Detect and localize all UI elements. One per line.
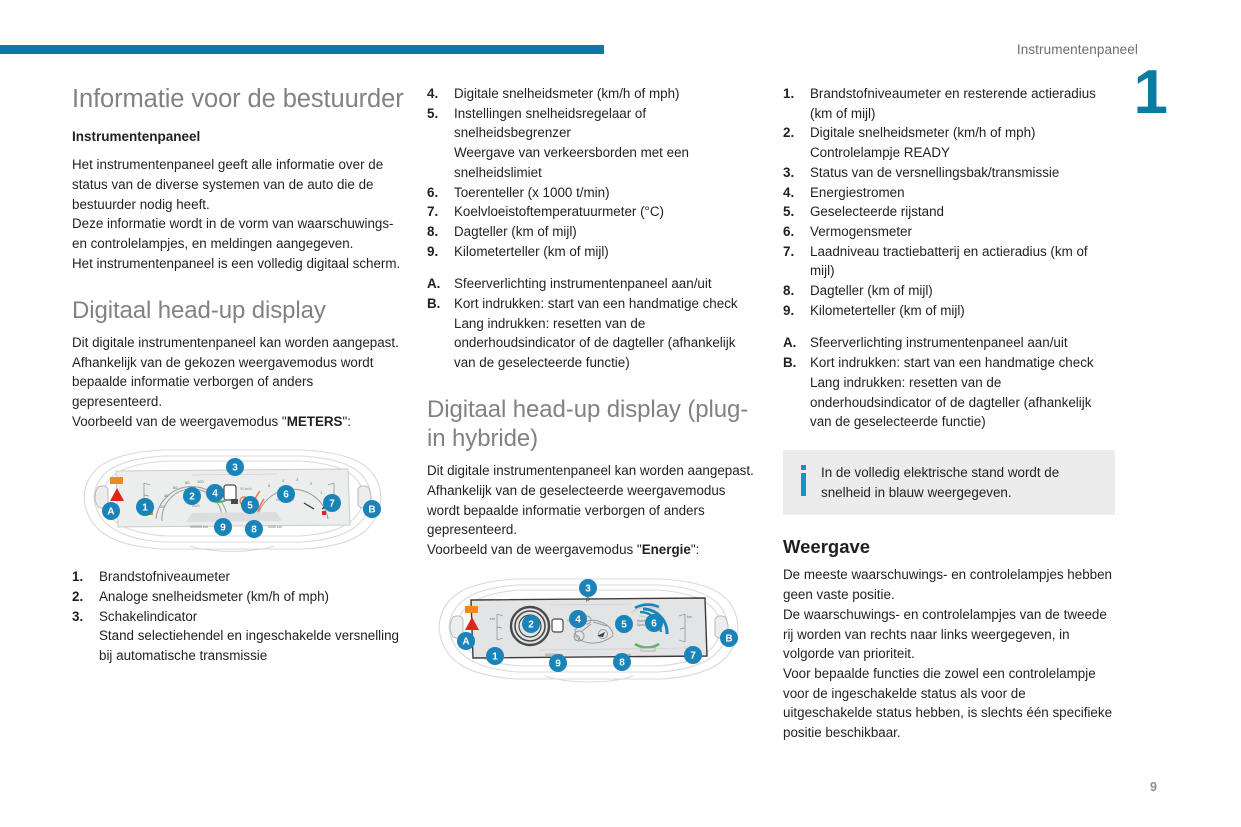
svg-text:7: 7 — [329, 499, 335, 510]
paragraph: De meeste waarschuwings- en controlelamp… — [783, 565, 1115, 604]
svg-text:6: 6 — [651, 618, 657, 629]
example-mode-name: METERS — [287, 414, 343, 429]
list-item: 8. Dagteller (km of mijl) — [427, 222, 755, 242]
svg-text:7: 7 — [690, 650, 696, 661]
list-text-sub: Stand selectiehendel en ingeschakelde ve… — [99, 626, 405, 665]
list-text: Kort indrukken: start van een handmatige… — [810, 353, 1115, 432]
list-marker: 7. — [427, 202, 454, 222]
list-marker: 8. — [427, 222, 454, 242]
info-note-text: In de volledig elektrische stand wordt d… — [821, 463, 1101, 502]
list-item: 5. Instellingen snelheidsregelaar of sne… — [427, 104, 755, 183]
list-marker: 5. — [783, 202, 810, 222]
list-text: Sfeerverlichting instrumentenpaneel aan/… — [454, 274, 755, 294]
paragraph: Het instrumentenpaneel geeft alle inform… — [72, 155, 405, 214]
cluster-meters-svg: 20 40 60 80 100 120 140 km/h P 90 km/h — [72, 445, 392, 555]
svg-text:5: 5 — [621, 619, 627, 630]
list-text: Kilometerteller (km of mijl) — [810, 301, 1115, 321]
svg-text:60: 60 — [173, 485, 178, 490]
list-text: Brandstofniveaumeter — [99, 567, 405, 587]
paragraph: Dit digitale instrumentenpaneel kan word… — [427, 461, 755, 481]
list-marker: 6. — [783, 222, 810, 242]
figure-instrument-cluster-energie: km READY P — [427, 574, 755, 686]
list-item: 7. Laadniveau tractiebatterij en actiera… — [783, 242, 1115, 281]
list-cluster-items-3: 1. Brandstofniveaumeter en resterende ac… — [783, 84, 1115, 320]
column-left: Informatie voor de bestuurder Instrument… — [72, 84, 405, 666]
list-item: 6. Vermogensmeter — [783, 222, 1115, 242]
list-marker: B. — [427, 294, 454, 373]
svg-text:8: 8 — [251, 525, 257, 536]
heading-digitaal-head-up-display-hybride: Digitaal head-up display (plug-in hybrid… — [427, 395, 755, 454]
list-cluster-items-2: 4. Digitale snelheidsmeter (km/h of mph)… — [427, 84, 755, 261]
list-marker: 1. — [72, 567, 99, 587]
header-section-title: Instrumentenpaneel — [1017, 42, 1138, 57]
list-text: Energiestromen — [810, 183, 1115, 203]
paragraph: Voor bepaalde functies die zowel een con… — [783, 664, 1115, 743]
list-text: Digitale snelheidsmeter (km/h of mph) — [454, 84, 755, 104]
svg-text:5: 5 — [247, 501, 253, 512]
list-marker: 4. — [427, 84, 454, 104]
svg-text:km: km — [687, 615, 692, 619]
list-item: 7. Koelvloeistoftemperatuurmeter (°C) — [427, 202, 755, 222]
section-heading-instrumentenpaneel: Instrumentenpaneel — [72, 128, 405, 146]
list-marker: 9. — [427, 242, 454, 262]
list-text-main: Digitale snelheidsmeter (km/h of mph) — [810, 125, 1036, 140]
list-marker: 9. — [783, 301, 810, 321]
paragraph: De waarschuwings- en controlelampjes van… — [783, 605, 1115, 664]
list-text: Analoge snelheidsmeter (km/h of mph) — [99, 587, 405, 607]
list-marker: 3. — [72, 607, 99, 666]
list-text: Toerenteller (x 1000 t/min) — [454, 183, 755, 203]
list-text-sub: Weergave van verkeersborden met een snel… — [454, 143, 755, 182]
paragraph: Dit digitale instrumentenpaneel kan word… — [72, 333, 405, 353]
example-mode-name: Energie — [642, 542, 691, 557]
list-item: 6. Toerenteller (x 1000 t/min) — [427, 183, 755, 203]
svg-text:90 km/h: 90 km/h — [240, 487, 252, 491]
list-text: Sfeerverlichting instrumentenpaneel aan/… — [810, 333, 1115, 353]
svg-text:4: 4 — [212, 489, 218, 500]
list-marker: 4. — [783, 183, 810, 203]
example-prefix: Voorbeeld van de weergavemodus " — [427, 542, 642, 557]
list-item: 3. Status van de versnellingsbak/transmi… — [783, 163, 1115, 183]
list-marker: A. — [427, 274, 454, 294]
paragraph-example-mode: Voorbeeld van de weergavemodus "METERS": — [72, 412, 405, 432]
svg-text:9: 9 — [220, 523, 226, 534]
list-marker: 6. — [427, 183, 454, 203]
svg-text:4: 4 — [575, 614, 581, 625]
list-text-main: Instellingen snelheidsregelaar of snelhe… — [454, 106, 646, 141]
list-item: 4. Digitale snelheidsmeter (km/h of mph) — [427, 84, 755, 104]
list-text-sub: Lang indrukken: resetten van de onderhou… — [810, 373, 1115, 432]
list-item: 3. Schakelindicator Stand selectiehendel… — [72, 607, 405, 666]
list-text-main: Kort indrukken: start van een handmatige… — [810, 355, 1094, 370]
list-text: Brandstofniveaumeter en resterende actie… — [810, 84, 1115, 123]
list-item: B. Kort indrukken: start van een handmat… — [427, 294, 755, 373]
svg-text:100: 100 — [197, 479, 204, 484]
list-text: Dagteller (km of mijl) — [454, 222, 755, 242]
list-text: Vermogensmeter — [810, 222, 1115, 242]
paragraph: Deze informatie wordt in de vorm van waa… — [72, 214, 405, 253]
list-text: Geselecteerde rijstand — [810, 202, 1115, 222]
svg-text:6: 6 — [283, 490, 289, 501]
list-text: Schakelindicator Stand selectiehendel en… — [99, 607, 405, 666]
header-accent-rule — [0, 45, 604, 54]
list-marker: B. — [783, 353, 810, 432]
svg-text:80: 80 — [185, 480, 190, 485]
page-title: Informatie voor de bestuurder — [72, 84, 405, 115]
cluster-energie-svg: km READY P — [427, 574, 749, 686]
list-item: 8. Dagteller (km of mijl) — [783, 281, 1115, 301]
list-text-sub: Lang indrukken: resetten van de onderhou… — [454, 314, 755, 373]
svg-text:9: 9 — [555, 658, 561, 669]
list-marker: 2. — [72, 587, 99, 607]
svg-text:P: P — [586, 598, 590, 604]
heading-digitaal-head-up-display: Digitaal head-up display — [72, 296, 405, 325]
svg-text:B: B — [368, 505, 375, 516]
list-marker: 1. — [783, 84, 810, 123]
svg-text:20: 20 — [160, 504, 165, 509]
svg-text:1: 1 — [492, 651, 498, 662]
svg-text:A: A — [107, 507, 114, 518]
svg-text:000000 km: 000000 km — [190, 525, 208, 529]
svg-text:km: km — [490, 617, 495, 621]
list-text: Status van de versnellingsbak/transmissi… — [810, 163, 1115, 183]
example-suffix: ": — [691, 542, 699, 557]
list-item: 4. Energiestromen — [783, 183, 1115, 203]
list-item: A. Sfeerverlichting instrumentenpaneel a… — [783, 333, 1115, 353]
chapter-number: 1 — [1134, 62, 1166, 124]
list-text-sub: Controlelampje READY — [810, 143, 1115, 163]
list-text: Kilometerteller (km of mijl) — [454, 242, 755, 262]
info-icon — [795, 463, 821, 497]
list-text-main: Kort indrukken: start van een handmatige… — [454, 296, 738, 311]
svg-text:B: B — [725, 633, 732, 644]
list-text: Digitale snelheidsmeter (km/h of mph) Co… — [810, 123, 1115, 162]
list-marker: 7. — [783, 242, 810, 281]
list-item: A. Sfeerverlichting instrumentenpaneel a… — [427, 274, 755, 294]
paragraph-example-mode: Voorbeeld van de weergavemodus "Energie"… — [427, 540, 755, 560]
paragraph: Afhankelijk van de gekozen weergavemodus… — [72, 353, 405, 412]
list-text: Kort indrukken: start van een handmatige… — [454, 294, 755, 373]
page-number: 9 — [1150, 780, 1157, 794]
list-item: 9. Kilometerteller (km of mijl) — [783, 301, 1115, 321]
list-item: 2. Digitale snelheidsmeter (km/h of mph)… — [783, 123, 1115, 162]
list-marker: A. — [783, 333, 810, 353]
svg-text:1: 1 — [142, 503, 148, 514]
list-cluster-letters-3: A. Sfeerverlichting instrumentenpaneel a… — [783, 333, 1115, 432]
list-item: 2. Analoge snelheidsmeter (km/h of mph) — [72, 587, 405, 607]
svg-text:8: 8 — [619, 657, 625, 668]
example-suffix: ": — [343, 414, 351, 429]
list-text: Laadniveau tractiebatterij en actieradiu… — [810, 242, 1115, 281]
column-middle: 4. Digitale snelheidsmeter (km/h of mph)… — [427, 84, 755, 698]
list-marker: 3. — [783, 163, 810, 183]
svg-text:A: A — [462, 636, 469, 647]
list-text: Koelvloeistoftemperatuurmeter (°C) — [454, 202, 755, 222]
paragraph: Afhankelijk van de geselecteerde weergav… — [427, 481, 755, 540]
list-item: 1. Brandstofniveaumeter en resterende ac… — [783, 84, 1115, 123]
svg-text:3: 3 — [585, 583, 591, 594]
list-item: B. Kort indrukken: start van een handmat… — [783, 353, 1115, 432]
svg-text:2: 2 — [528, 619, 534, 630]
list-cluster-items-1: 1. Brandstofniveaumeter 2. Analoge snelh… — [72, 567, 405, 666]
list-marker: 5. — [427, 104, 454, 183]
example-prefix: Voorbeeld van de weergavemodus " — [72, 414, 287, 429]
svg-text:3: 3 — [232, 463, 238, 474]
list-item: 9. Kilometerteller (km of mijl) — [427, 242, 755, 262]
list-marker: 8. — [783, 281, 810, 301]
svg-text:2: 2 — [189, 492, 195, 503]
list-item: 5. Geselecteerde rijstand — [783, 202, 1115, 222]
paragraph: Het instrumentenpaneel is een volledig d… — [72, 254, 405, 274]
figure-instrument-cluster-meters: 20 40 60 80 100 120 140 km/h P 90 km/h — [72, 445, 405, 555]
svg-text:40: 40 — [164, 493, 169, 498]
column-right: 1. Brandstofniveaumeter en resterende ac… — [783, 84, 1115, 743]
list-text: Dagteller (km of mijl) — [810, 281, 1115, 301]
heading-weergave: Weergave — [783, 535, 1115, 559]
list-cluster-letters-2: A. Sfeerverlichting instrumentenpaneel a… — [427, 274, 755, 373]
info-note-box: In de volledig elektrische stand wordt d… — [783, 450, 1115, 515]
list-text-main: Schakelindicator — [99, 609, 197, 624]
svg-text:Sport: Sport — [637, 623, 645, 627]
list-text: Instellingen snelheidsregelaar of snelhe… — [454, 104, 755, 183]
list-item: 1. Brandstofniveaumeter — [72, 567, 405, 587]
svg-text:0000 km: 0000 km — [268, 525, 282, 529]
list-marker: 2. — [783, 123, 810, 162]
